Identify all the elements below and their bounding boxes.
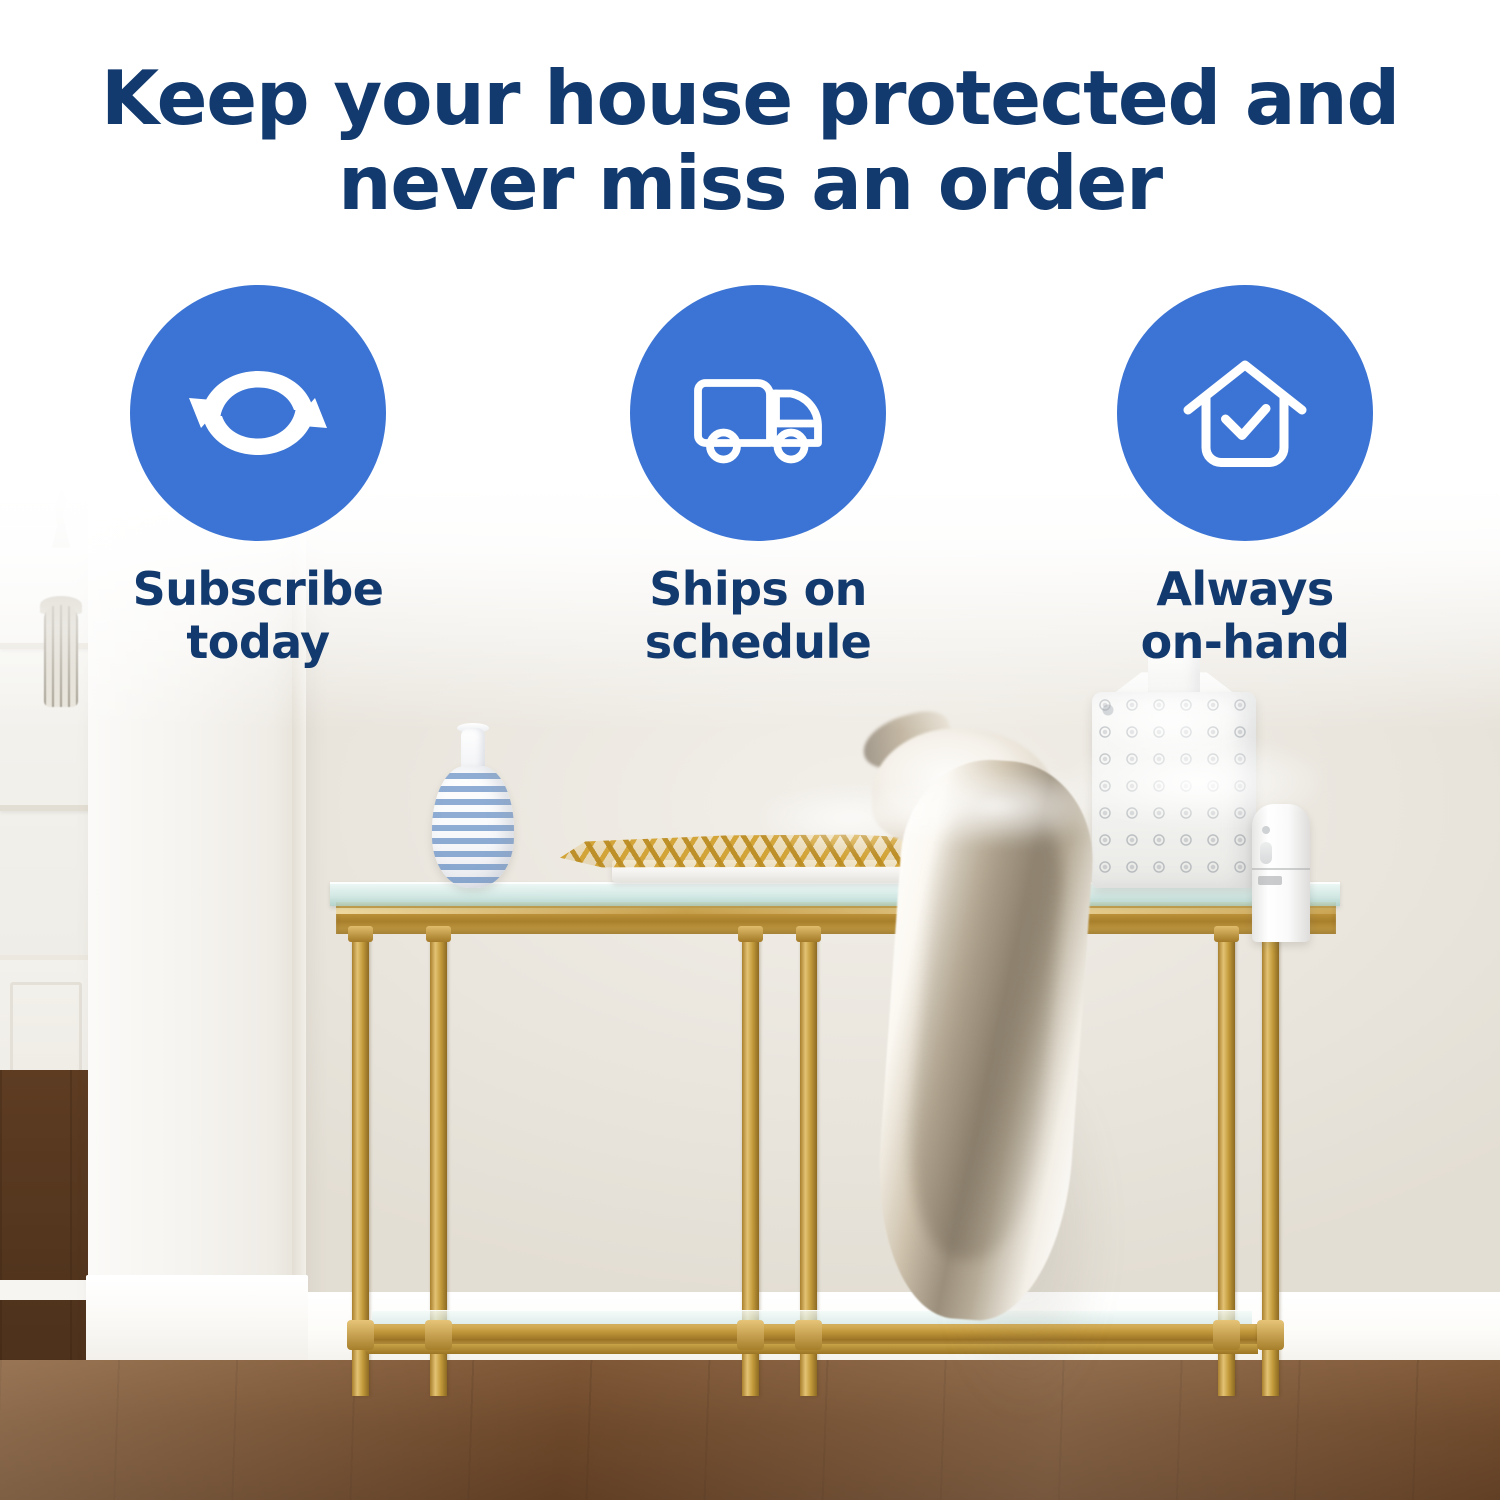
leg-joint xyxy=(795,1320,822,1350)
leg-cap xyxy=(426,926,451,942)
leg-joint xyxy=(425,1320,452,1350)
air-freshener-seam xyxy=(1252,868,1310,870)
leg-joint xyxy=(1213,1320,1240,1350)
feature-subscribe-today: Subscribe today xyxy=(58,285,458,670)
page-title: Keep your house protected and never miss… xyxy=(0,56,1500,226)
infographic-canvas: Keep your house protected and never miss… xyxy=(0,0,1500,1500)
air-freshener-button xyxy=(1260,842,1272,864)
table-apron xyxy=(336,902,1336,934)
headline-line-1: Keep your house protected and xyxy=(101,54,1399,142)
feature-list: Subscribe today Ships on sch xyxy=(0,285,1500,705)
air-freshener-indicator-light xyxy=(1262,826,1270,834)
ceramic-vessel-pattern xyxy=(1092,692,1256,888)
headline-line-2: never miss an order xyxy=(0,141,1500,226)
leg-cap xyxy=(796,926,821,942)
table-apron-highlight xyxy=(336,908,1336,914)
air-freshener-label xyxy=(1258,876,1282,885)
feature-ships-on-schedule: Ships on schedule xyxy=(558,285,958,670)
air-freshener-device xyxy=(1252,804,1310,942)
feature-label: Ships on schedule xyxy=(558,563,958,670)
delivery-truck-icon xyxy=(683,338,833,488)
feature-always-on-hand: Always on-hand xyxy=(1045,285,1445,670)
feature-icon-badge xyxy=(130,285,386,541)
striped-vase xyxy=(432,766,514,888)
house-check-icon xyxy=(1170,338,1320,488)
leg-cap xyxy=(348,926,373,942)
ceramic-vessel xyxy=(1092,692,1256,888)
feature-label: Subscribe today xyxy=(58,563,458,670)
feature-icon-badge xyxy=(630,285,886,541)
leg-joint xyxy=(1257,1320,1284,1350)
refresh-cycle-icon xyxy=(183,338,333,488)
feature-icon-badge xyxy=(1117,285,1373,541)
leg-joint xyxy=(347,1320,374,1350)
feature-label: Always on-hand xyxy=(1045,563,1445,670)
leg-cap xyxy=(1214,926,1239,942)
leg-cap xyxy=(738,926,763,942)
leg-joint xyxy=(737,1320,764,1350)
